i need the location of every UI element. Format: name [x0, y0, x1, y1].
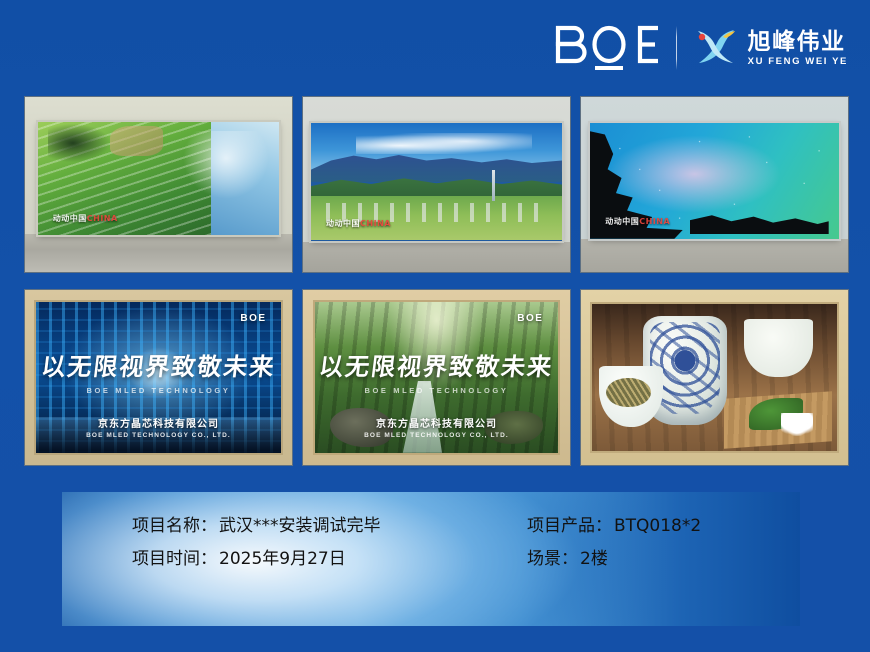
- photo-gallery: 动动中国CHINA 动动中国CHINA: [24, 96, 849, 466]
- gallery-photo-5[interactable]: BOE 以无限视界致敬未来 BOE MLED TECHNOLOGY 京东方晶芯科…: [302, 289, 571, 466]
- info-grid: 项目名称： 武汉***安装调试完毕 项目时间： 2025年9月27日 项目产品：…: [62, 492, 800, 626]
- company-name-cn: 京东方晶芯科技有限公司: [36, 415, 282, 430]
- floor-surface: [581, 239, 848, 272]
- led-screen: 动动中国CHINA: [311, 123, 562, 240]
- boe-logo: [554, 25, 662, 71]
- screen-overlay-brand: 动动中国CHINA: [326, 218, 391, 229]
- info-row-project-date: 项目时间： 2025年9月27日: [132, 551, 527, 584]
- led-screen: BOE 以无限视界致敬未来 BOE MLED TECHNOLOGY 京东方晶芯科…: [36, 302, 282, 453]
- company-name-en: BOE MLED TECHNOLOGY CO., LTD.: [36, 432, 282, 439]
- info-column-left: 项目名称： 武汉***安装调试完毕 项目时间： 2025年9月27日: [132, 518, 527, 584]
- partner-logo: 旭峰伟业 XU FENG WEI YE: [693, 27, 848, 69]
- floor-surface: [25, 234, 292, 273]
- gallery-photo-4[interactable]: BOE 以无限视界致敬未来 BOE MLED TECHNOLOGY 京东方晶芯科…: [24, 289, 293, 466]
- value-project-product: BTQ018*2: [614, 518, 701, 535]
- logo-lockup: 旭峰伟业 XU FENG WEI YE: [554, 23, 848, 73]
- slogan-en: BOE MLED TECHNOLOGY: [36, 386, 282, 395]
- slogan-cn: 以无限视界致敬未来: [36, 347, 282, 382]
- boe-logo-icon: [554, 25, 662, 71]
- gallery-photo-2[interactable]: 动动中国CHINA: [302, 96, 571, 273]
- led-screen: [592, 304, 838, 451]
- screen-boe-logo: BOE: [240, 313, 266, 324]
- gallery-photo-3[interactable]: 动动中国CHINA: [580, 96, 849, 273]
- label-project-name: 项目名称：: [132, 518, 217, 535]
- partner-name-en: XU FENG WEI YE: [748, 57, 848, 67]
- slide-root: 旭峰伟业 XU FENG WEI YE 动动中国CHINA: [0, 0, 870, 652]
- project-info-panel: 项目名称： 武汉***安装调试完毕 项目时间： 2025年9月27日 项目产品：…: [62, 492, 800, 626]
- partner-name-cn: 旭峰伟业: [748, 30, 848, 54]
- slogan-cn: 以无限视界致敬未来: [315, 347, 558, 382]
- gallery-photo-1[interactable]: 动动中国CHINA: [24, 96, 293, 273]
- screen-company: 京东方晶芯科技有限公司 BOE MLED TECHNOLOGY CO., LTD…: [36, 415, 282, 439]
- header: 旭峰伟业 XU FENG WEI YE: [0, 0, 870, 96]
- screen-boe-logo: BOE: [517, 313, 543, 324]
- slogan-en: BOE MLED TECHNOLOGY: [315, 386, 558, 395]
- value-project-date: 2025年9月27日: [219, 551, 346, 568]
- label-project-product: 项目产品：: [527, 518, 612, 535]
- gallery-photo-6[interactable]: [580, 289, 849, 466]
- floor-surface: [303, 242, 570, 272]
- partner-text: 旭峰伟业 XU FENG WEI YE: [748, 30, 848, 67]
- screen-slogan: 以无限视界致敬未来 BOE MLED TECHNOLOGY: [36, 347, 282, 395]
- screen-overlay-brand: 动动中国CHINA: [605, 216, 670, 227]
- label-scene: 场景：: [527, 551, 578, 568]
- label-project-date: 项目时间：: [132, 551, 217, 568]
- company-name-en: BOE MLED TECHNOLOGY CO., LTD.: [315, 432, 558, 439]
- value-scene: 2楼: [580, 551, 608, 568]
- screen-slogan: 以无限视界致敬未来 BOE MLED TECHNOLOGY: [315, 347, 558, 395]
- info-column-right: 项目产品： BTQ018*2 场景： 2楼: [527, 518, 800, 584]
- screen-company: 京东方晶芯科技有限公司 BOE MLED TECHNOLOGY CO., LTD…: [315, 415, 558, 439]
- logo-divider: [676, 26, 677, 70]
- led-screen: 动动中国CHINA: [590, 123, 838, 239]
- led-screen: 动动中国CHINA: [38, 122, 278, 236]
- screen-overlay-brand: 动动中国CHINA: [53, 213, 118, 224]
- info-row-project-product: 项目产品： BTQ018*2: [527, 518, 800, 551]
- xufeng-x-mark-icon: [693, 27, 739, 69]
- info-row-scene: 场景： 2楼: [527, 551, 800, 584]
- led-screen: BOE 以无限视界致敬未来 BOE MLED TECHNOLOGY 京东方晶芯科…: [315, 302, 558, 453]
- info-row-project-name: 项目名称： 武汉***安装调试完毕: [132, 518, 527, 551]
- company-name-cn: 京东方晶芯科技有限公司: [315, 415, 558, 430]
- value-project-name: 武汉***安装调试完毕: [219, 518, 381, 535]
